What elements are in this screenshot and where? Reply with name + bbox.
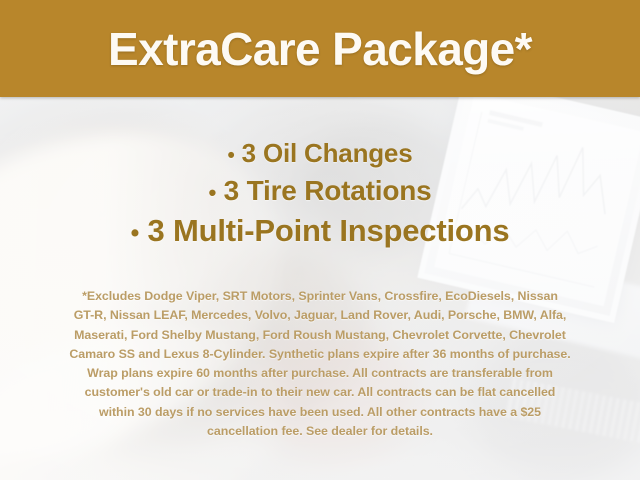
disclaimer-line: Camaro SS and Lexus 8-Cylinder. Syntheti… [30,345,610,364]
disclaimer-text: *Excludes Dodge Viper, SRT Motors, Sprin… [30,287,610,441]
disclaimer-line: Maserati, Ford Shelby Mustang, Ford Rous… [30,326,610,345]
disclaimer-line: GT-R, Nissan LEAF, Mercedes, Volvo, Jagu… [30,306,610,325]
bullet-dot-icon: • [208,180,216,205]
disclaimer-line: Wrap plans expire 60 months after purcha… [30,364,610,383]
list-item-label: 3 Multi-Point Inspections [148,213,510,248]
bullet-dot-icon: • [131,220,139,247]
list-item: • 3 Oil Changes [0,136,640,173]
bullet-dot-icon: • [228,144,235,167]
list-item: • 3 Multi-Point Inspections [0,211,640,254]
disclaimer-line: *Excludes Dodge Viper, SRT Motors, Sprin… [30,287,610,306]
list-item: • 3 Tire Rotations [0,173,640,211]
list-item-label: 3 Oil Changes [242,138,413,168]
disclaimer-line: cancellation fee. See dealer for details… [30,422,610,441]
list-item-label: 3 Tire Rotations [224,175,432,206]
header-banner: ExtraCare Package* [0,0,640,97]
disclaimer-line: customer's old car or trade-in to their … [30,383,610,402]
benefits-list: • 3 Oil Changes • 3 Tire Rotations • 3 M… [0,136,640,254]
page-title: ExtraCare Package* [108,26,532,72]
extracare-package-poster: ExtraCare Package* • 3 Oil Changes • 3 T… [0,0,640,480]
disclaimer-line: within 30 days if no services have been … [30,403,610,422]
